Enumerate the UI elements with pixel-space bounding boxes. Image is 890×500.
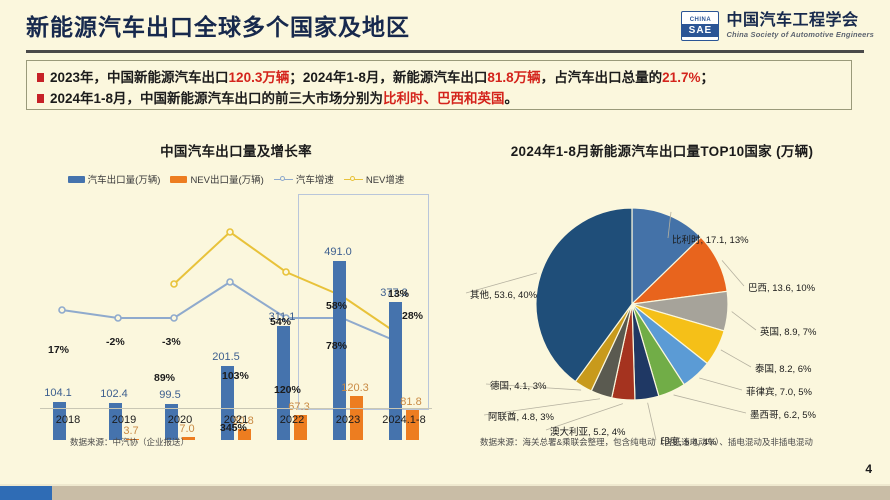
footer-bar-accent: [0, 486, 52, 500]
pie-leader-line: [732, 312, 756, 330]
pie-slice-label: 墨西哥, 6.2, 5%: [750, 407, 816, 421]
x-axis-label: 2023: [319, 414, 377, 426]
pie-slice-label: 其他, 53.6, 40%: [470, 287, 537, 301]
auto-growth-label: 58%: [326, 300, 347, 312]
footer-bar: [0, 486, 890, 500]
legend-item-0: 汽车出口量(万辆): [68, 172, 161, 186]
pie-slice-label: 德国, 4.1, 3%: [490, 378, 547, 392]
logo: CHINA SAE 中国汽车工程学会 China Society of Auto…: [681, 11, 874, 41]
pie-slice-label: 菲律宾, 7.0, 5%: [746, 384, 812, 398]
sae-logo-icon: CHINA SAE: [681, 11, 719, 41]
logo-text: 中国汽车工程学会 China Society of Automotive Eng…: [726, 12, 874, 40]
pie-slice-label: 泰国, 8.2, 6%: [755, 361, 812, 375]
header-divider: [26, 50, 864, 53]
logo-top-text: CHINA: [690, 16, 712, 24]
pie-leader-line: [699, 378, 742, 390]
bar-chart-legend: 汽车出口量(万辆)NEV出口量(万辆)汽车增速NEV增速: [26, 172, 446, 186]
nev-growth-label: 78%: [326, 340, 347, 352]
pie-leader-line: [674, 395, 746, 413]
auto-growth-label: 103%: [222, 370, 249, 382]
auto-growth-label: 54%: [270, 316, 291, 328]
legend-line-icon: [274, 175, 293, 183]
page-title-wrap: 新能源汽车出口全球多个国家及地区: [26, 8, 410, 42]
key-point-1: 2023年，中国新能源汽车出口120.3万辆；2024年1-8月，新能源汽车出口…: [37, 67, 843, 88]
legend-label: NEV出口量(万辆): [190, 172, 263, 186]
left-source-note: 数据来源：中汽协（企业报送）: [70, 436, 189, 448]
legend-item-2: 汽车增速: [274, 172, 334, 186]
x-axis-label: 2021: [207, 414, 265, 426]
legend-label: NEV增速: [366, 172, 405, 186]
pie-leader-line: [648, 403, 656, 440]
x-axis-line: [40, 408, 432, 409]
pie-chart-title: 2024年1-8月新能源汽车出口量TOP10国家 (万辆): [460, 140, 864, 160]
legend-swatch-icon: [170, 176, 187, 183]
key-points-box: 2023年，中国新能源汽车出口120.3万辆；2024年1-8月，新能源汽车出口…: [26, 60, 852, 110]
key-point-2: 2024年1-8月，中国新能源汽车出口的前三大市场分别为比利时、巴西和英国。: [37, 88, 843, 109]
auto-growth-label: 13%: [388, 288, 409, 300]
org-name-cn: 中国汽车工程学会: [726, 12, 874, 30]
legend-label: 汽车增速: [296, 172, 334, 186]
nev-growth-label: 120%: [274, 384, 301, 396]
pie-slice-label: 巴西, 13.6, 10%: [748, 280, 815, 294]
pie-leader-line: [721, 350, 751, 367]
slide-root: 新能源汽车出口全球多个国家及地区 CHINA SAE 中国汽车工程学会 Chin…: [0, 0, 890, 500]
bar-chart-title: 中国汽车出口量及增长率: [26, 140, 446, 160]
legend-label: 汽车出口量(万辆): [88, 172, 161, 186]
page-number: 4: [865, 462, 872, 476]
legend-line-icon: [344, 175, 363, 183]
legend-item-3: NEV增速: [344, 172, 405, 186]
x-axis-label: 2020: [151, 414, 209, 426]
bar-value-label: 102.4: [85, 388, 143, 400]
pie-slice-label: 阿联酋, 4.8, 3%: [488, 409, 554, 423]
legend-item-1: NEV出口量(万辆): [170, 172, 263, 186]
page-title: 新能源汽车出口全球多个国家及地区: [26, 8, 410, 42]
right-source-note: 数据来源：海关总署&乘联会整理，包含纯电动（含低速电动车）、插电混动及非插电混动: [480, 436, 813, 448]
auto-growth-label: -3%: [162, 336, 181, 348]
logo-bottom-text: SAE: [682, 24, 718, 37]
x-axis-label: 2018: [39, 414, 97, 426]
bar-value-label: 99.5: [141, 389, 199, 401]
pie-chart-panel: 2024年1-8月新能源汽车出口量TOP10国家 (万辆) 比利时, 17.1,…: [460, 134, 864, 464]
bar-chart-panel: 中国汽车出口量及增长率 汽车出口量(万辆)NEV出口量(万辆)汽车增速NEV增速…: [26, 134, 446, 464]
nev-growth-label: 28%: [402, 310, 423, 322]
slide-header: 新能源汽车出口全球多个国家及地区 CHINA SAE 中国汽车工程学会 Chin…: [0, 0, 890, 56]
pie-slice-label: 英国, 8.9, 7%: [760, 324, 817, 338]
bullet-square-icon: [37, 94, 44, 103]
org-name-en: China Society of Automotive Engineers: [726, 30, 874, 40]
legend-swatch-icon: [68, 176, 85, 183]
x-axis-labels: 2018201920202021202220232024.1-8: [40, 414, 432, 434]
x-axis-label: 2019: [95, 414, 153, 426]
auto-growth-label: -2%: [106, 336, 125, 348]
nev-growth-label: 89%: [154, 372, 175, 384]
key-point-2-text: 2024年1-8月，中国新能源汽车出口的前三大市场分别为比利时、巴西和英国。: [50, 88, 518, 109]
x-axis-label: 2024.1-8: [375, 414, 433, 426]
x-axis-label: 2022: [263, 414, 321, 426]
bar-chart: 104.117%102.43.7-2%99.57.0-3%89%201.530.…: [26, 190, 446, 440]
auto-growth-label: 17%: [48, 344, 69, 356]
key-point-1-text: 2023年，中国新能源汽车出口120.3万辆；2024年1-8月，新能源汽车出口…: [50, 67, 714, 88]
bullet-square-icon: [37, 73, 44, 82]
bar-value-label: 81.8: [382, 396, 440, 408]
bar-value-label: 201.5: [197, 351, 255, 363]
pie-chart: 比利时, 17.1, 13%巴西, 13.6, 10%英国, 8.9, 7%泰国…: [460, 164, 864, 464]
bar-value-label: 491.0: [309, 246, 367, 258]
bar-value-label: 104.1: [29, 387, 87, 399]
pie-slice-label: 比利时, 17.1, 13%: [672, 232, 749, 246]
